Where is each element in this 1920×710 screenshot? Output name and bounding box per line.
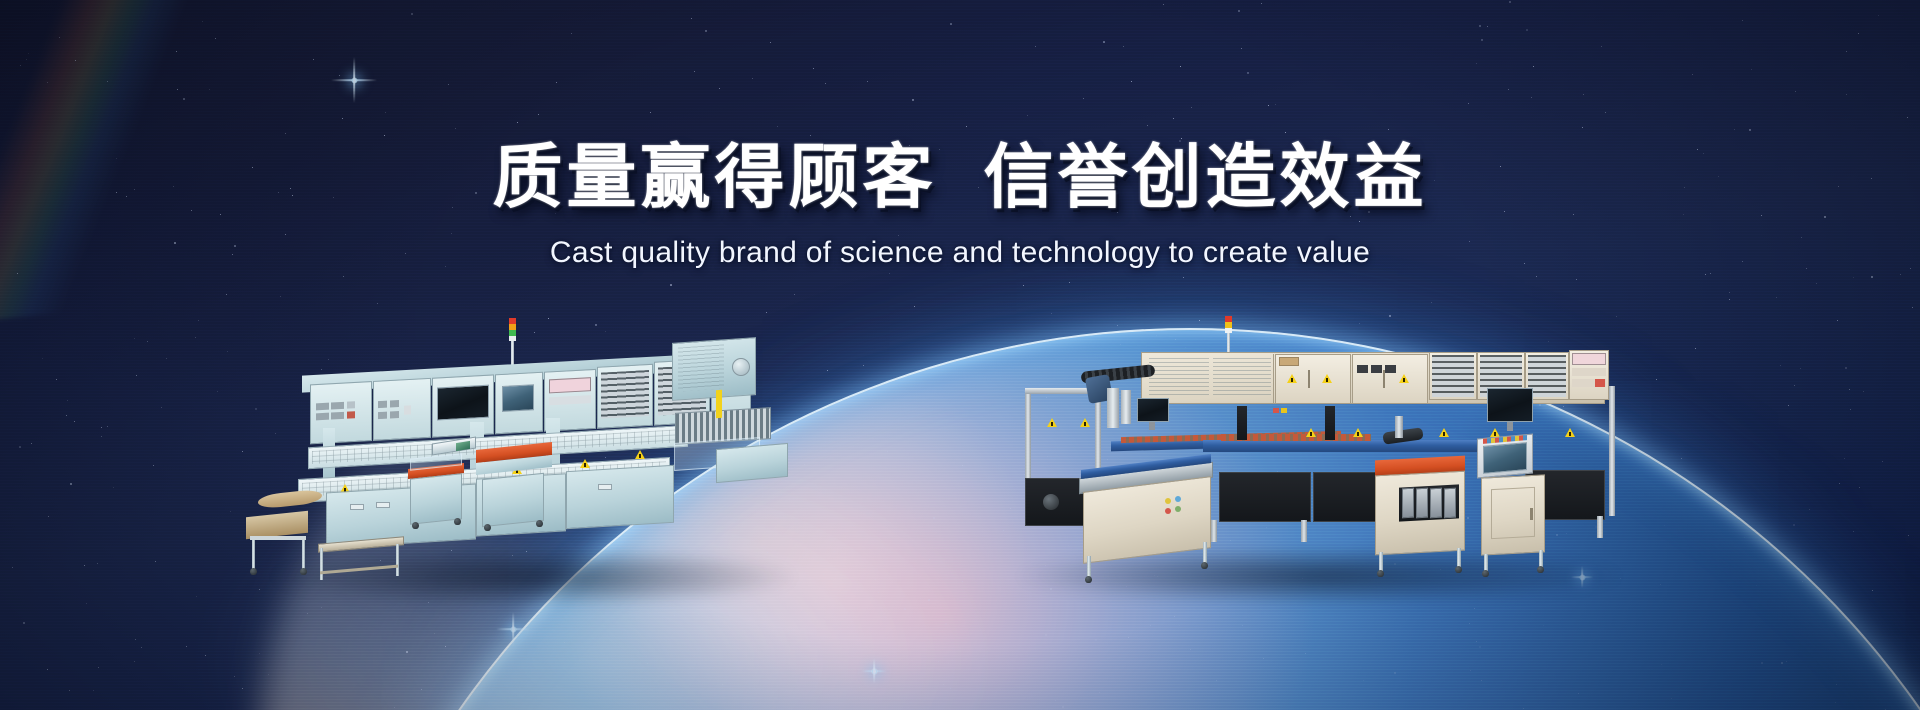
subline-english: Cast quality brand of science and techno… [0,236,1920,270]
warning-triangle-icon [1322,374,1332,383]
console-door[interactable] [1491,487,1535,539]
ventilation-louver [1149,358,1209,396]
cassette-magazine [1416,488,1428,519]
sensor-column [1237,406,1247,440]
cart-cabinet [482,473,544,528]
conveyor-rail [1203,440,1493,452]
left-production-line [280,318,800,603]
cabinet-label [1279,357,1299,366]
warning-triangle-icon [1306,428,1316,437]
warning-triangle-icon [1047,418,1057,427]
cassette-magazine [1430,488,1442,519]
robot-z-axis [1107,388,1119,428]
warning-triangle-icon [1565,428,1575,437]
warning-triangle-icon [1399,374,1409,383]
enclosure-emblem [732,358,750,376]
cart-cabinet [410,473,462,524]
cassette-magazine [1444,488,1456,519]
ventilation-louver [1213,358,1271,396]
display-monitor [1137,398,1169,422]
cabinet-door[interactable] [1352,354,1428,404]
warning-label-strip [716,390,722,418]
right-automation-line [1025,330,1615,600]
display-monitor [1487,388,1533,422]
warning-triangle-icon [1080,418,1090,427]
door-handle[interactable] [1530,508,1533,520]
module-rack [1528,355,1566,397]
banner-copy: 质量赢得顾客 信誉创造效益 Cast quality brand of scie… [0,0,1920,270]
headline-chinese: 质量赢得顾客 信誉创造效益 [0,140,1920,214]
warning-triangle-icon [580,459,590,468]
sensor-column [1325,406,1335,440]
display-monitor [437,385,489,421]
lower-enclosure [1219,472,1311,522]
cassette-magazine [1402,488,1414,519]
warning-triangle-icon [1287,374,1297,383]
button-cluster [378,399,420,427]
base-cabinet [566,465,674,529]
warning-triangle-icon [1353,428,1363,437]
warning-triangle-icon [1439,428,1449,437]
module-rack [1432,355,1474,397]
warning-triangle-icon [635,450,645,459]
hero-banner: 质量赢得顾客 信誉创造效益 Cast quality brand of scie… [0,0,1920,710]
hmi-touch-panel[interactable] [1483,442,1527,474]
module-rack [601,370,649,419]
button-cluster [316,401,366,428]
gantry-post [1609,386,1615,516]
end-module [716,443,788,483]
access-port [1043,494,1059,510]
hmi-touch-panel [502,384,534,412]
